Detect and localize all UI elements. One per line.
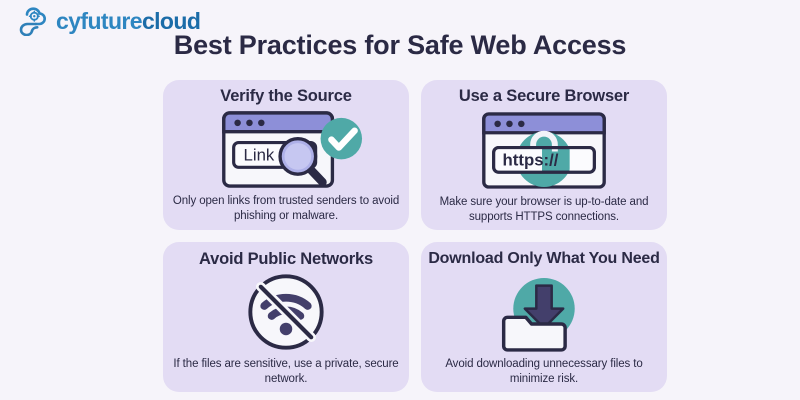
card-title: Avoid Public Networks <box>199 248 373 268</box>
card-title: Verify the Source <box>220 86 351 105</box>
card-download-only-what-you-need: Download Only What You Need Avoid downlo… <box>421 242 667 392</box>
card-title: Use a Secure Browser <box>459 86 629 105</box>
card-description: Only open links from trusted senders to … <box>171 194 401 224</box>
card-description: Avoid downloading unnecessary files to m… <box>429 357 659 386</box>
wifi-disabled-icon <box>171 268 401 357</box>
page-title: Best Practices for Safe Web Access <box>0 30 800 61</box>
card-description: Make sure your browser is up-to-date and… <box>429 195 659 224</box>
card-use-a-secure-browser: Use a Secure Browser <box>421 80 667 230</box>
browser-https-padlock-icon: https:// <box>429 105 659 195</box>
card-description: If the files are sensitive, use a privat… <box>171 357 401 386</box>
cards-grid: Verify the Source Link <box>163 80 667 392</box>
card-avoid-public-networks: Avoid Public Networks If the files are s… <box>163 242 409 392</box>
card-verify-the-source: Verify the Source Link <box>163 80 409 230</box>
download-folder-icon <box>429 268 659 358</box>
browser-link-magnifier-check-icon: Link <box>171 105 401 194</box>
browser-field-text: Link <box>244 146 275 165</box>
browser-field-text: https:// <box>503 150 559 169</box>
infographic-canvas: cyfuturecloud Best Practices for Safe We… <box>0 0 800 400</box>
card-title: Download Only What You Need <box>428 248 659 268</box>
